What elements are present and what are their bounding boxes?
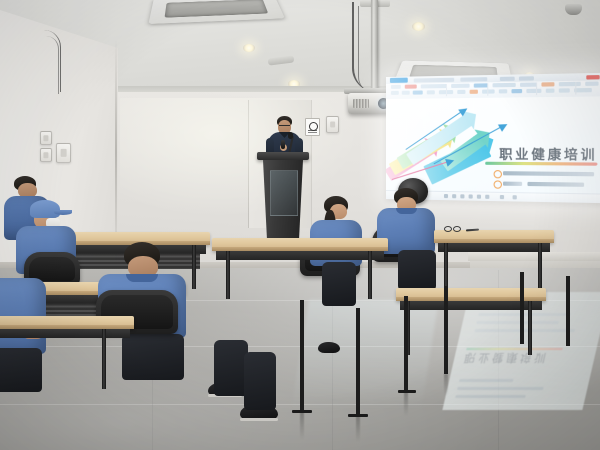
desk-surface [434, 230, 554, 243]
projector-vent [353, 99, 369, 108]
footer-icon[interactable] [460, 194, 464, 198]
footer-icon[interactable] [500, 195, 504, 199]
close-icon[interactable] [586, 75, 599, 80]
desk-row-3-mid [212, 238, 388, 300]
slide-bullet-1 [494, 170, 598, 177]
app-title-text [414, 77, 454, 82]
switch-rocker [43, 135, 48, 141]
attendee-ponytail-shoe [318, 342, 340, 353]
outlet-socket [60, 149, 67, 157]
switch-plate-lower[interactable] [40, 148, 52, 162]
attendee-cap [30, 200, 60, 218]
presenter-glasses-icon [279, 125, 290, 129]
leg-reflection [444, 374, 448, 396]
attendee-right-collar [396, 208, 417, 214]
desk-apron [216, 251, 384, 260]
desk-leg [368, 251, 372, 299]
no-smoking-sign-icon [305, 118, 320, 136]
desk-row-4-right [434, 230, 554, 290]
slide-title: 职业健康培训 [499, 143, 597, 163]
footer-icon[interactable] [513, 195, 517, 199]
chair-leg [444, 286, 448, 374]
shoe-sole [240, 418, 278, 421]
presenter-microphone [281, 140, 285, 149]
eyeglasses-on-desk [444, 226, 461, 230]
app-menu-item[interactable] [500, 76, 515, 80]
chair-leg [404, 296, 408, 392]
desk-leg-right-far [520, 272, 524, 344]
attendee-right-legs [398, 250, 436, 290]
desk-leg [538, 243, 542, 289]
attendee-front-left-shin-2 [244, 352, 276, 410]
leg-reflection [404, 392, 408, 416]
podium-front-panel [270, 170, 298, 216]
desk-surface [0, 316, 134, 329]
footer-icon[interactable] [469, 194, 473, 198]
podium-top-surface [257, 152, 309, 160]
bullet-dot-icon [494, 170, 502, 178]
downlight-4 [412, 22, 425, 31]
app-active-tab[interactable] [390, 78, 408, 83]
training-room-photo: 职业健康培训 [0, 0, 600, 450]
bullet-text-line [503, 182, 522, 186]
desk-leg [528, 301, 532, 355]
desk-row-1-front [0, 316, 134, 390]
outlet-plate[interactable] [56, 143, 71, 163]
footer-icon[interactable] [444, 194, 448, 198]
chair-leg [300, 300, 304, 412]
attendee-cap-brim [54, 210, 72, 215]
attendee-front-left-collar [126, 274, 158, 282]
leg-reflection [300, 412, 304, 440]
bullet-text-line [527, 182, 584, 187]
desk-apron [438, 243, 550, 252]
attendee-front-left-shin [214, 340, 248, 396]
projector-cable-2 [358, 6, 373, 92]
bullet-dot-icon [494, 180, 502, 188]
leg-reflection [356, 416, 360, 442]
bullet-text-line [503, 171, 594, 176]
footer-icon[interactable] [477, 195, 481, 199]
desk-leg [192, 245, 196, 289]
desk-leg-right-far-2 [566, 276, 570, 346]
footer-icon[interactable] [485, 195, 489, 199]
podium-cable-2 [46, 36, 59, 94]
switch-rocker [330, 121, 336, 128]
desk-apron [0, 329, 130, 338]
podium [260, 152, 306, 240]
podium-mic-head-icon [288, 132, 293, 139]
switch-rocker [43, 152, 48, 158]
footer-icon[interactable] [452, 194, 456, 198]
light-switch-right[interactable] [326, 116, 339, 133]
desk-leg [102, 329, 106, 389]
ceiling-camera-icon [565, 4, 582, 15]
desk-leg [226, 251, 230, 299]
desk-surface [212, 238, 388, 251]
app-title-text [460, 77, 487, 82]
downlight-2 [243, 44, 255, 52]
app-menu-item[interactable] [519, 76, 534, 80]
desk-leg [444, 243, 448, 289]
switch-plate-upper[interactable] [40, 131, 52, 145]
chair-leg [356, 308, 360, 416]
